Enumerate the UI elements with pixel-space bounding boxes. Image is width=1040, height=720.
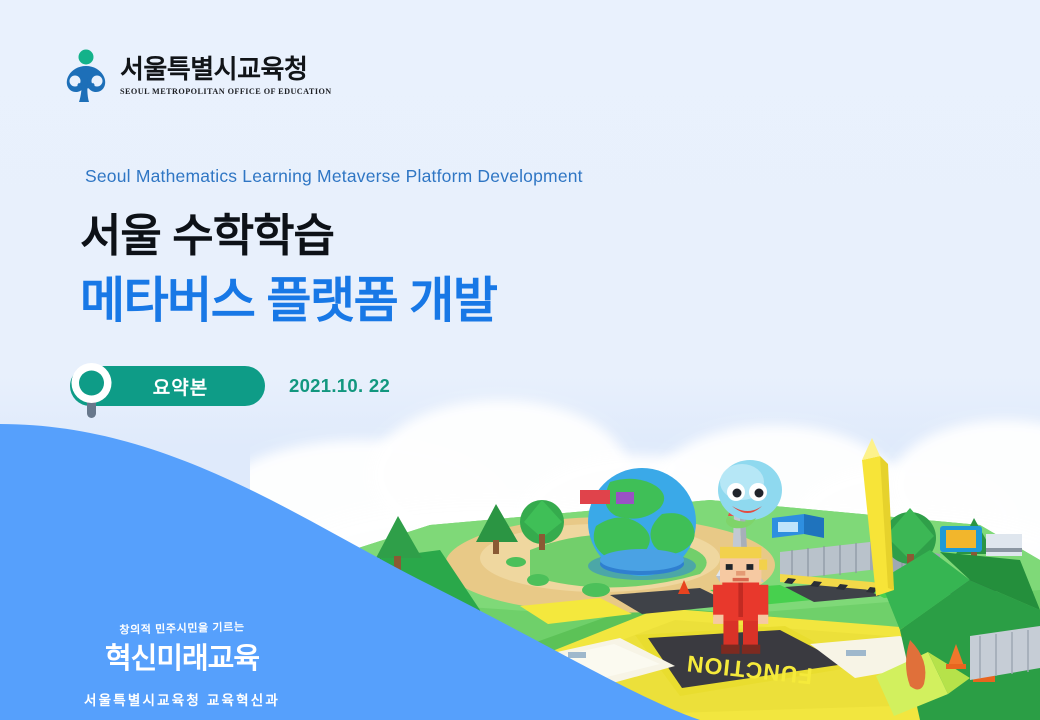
summary-badge-label: 요약본 xyxy=(127,373,208,400)
logo-text-group: 서울특별시교육청 SEOUL METROPOLITAN OFFICE OF ED… xyxy=(120,56,332,95)
publication-date: 2021.10. 22 xyxy=(289,375,390,397)
eyebrow-subtitle: Seoul Mathematics Learning Metaverse Pla… xyxy=(85,166,583,187)
seoul-education-person-logo-icon xyxy=(60,48,112,104)
magnifier-icon xyxy=(68,362,116,426)
title-line-2: 메타버스 플랫폼 개발 xyxy=(80,277,496,326)
summary-badge[interactable]: 요약본 xyxy=(70,366,265,406)
summary-badge-row: 요약본 2021.10. 22 xyxy=(70,366,390,406)
logo-english-name: SEOUL METROPOLITAN OFFICE OF EDUCATION xyxy=(120,87,332,96)
cover-slide: FUNCTION xyxy=(0,0,1040,720)
title-line-1: 서울 수학학습 xyxy=(80,213,334,258)
logo-korean-name: 서울특별시교육청 xyxy=(120,56,332,83)
brand-department: 서울특별시교육청 교육혁신과 xyxy=(62,689,302,709)
seoul-education-logo: 서울특별시교육청 SEOUL METROPOLITAN OFFICE OF ED… xyxy=(60,48,332,104)
footer-brand: 창의적 민주시민을 기르는 혁신미래교육 서울특별시교육청 교육혁신과 xyxy=(62,620,302,709)
blue-wave-shape xyxy=(0,0,1040,720)
brand-name: 혁신미래교육 xyxy=(62,635,302,677)
